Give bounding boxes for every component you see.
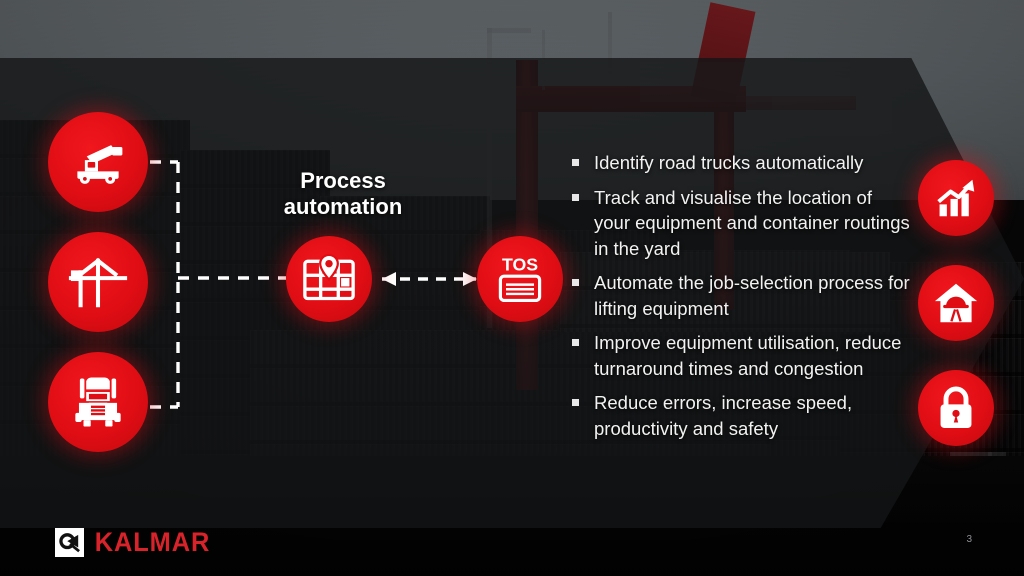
equipment-icon-road-truck[interactable]	[48, 352, 148, 452]
gantry-crane-icon	[67, 253, 129, 311]
benefit-icon-security[interactable]	[918, 370, 994, 446]
list-item: Reduce errors, increase speed, productiv…	[566, 390, 912, 441]
list-item-text: Reduce errors, increase speed, productiv…	[594, 392, 852, 439]
kalmar-wordmark: KALMAR	[95, 527, 211, 558]
benefit-icon-growth-chart[interactable]	[918, 160, 994, 236]
tos-badge[interactable]: TOS	[477, 236, 563, 322]
slide-canvas: Process automation TOS	[0, 0, 1024, 576]
benefits-list: Identify road trucks automatically Track…	[566, 150, 912, 450]
bullet-square-icon	[572, 279, 579, 286]
bullet-square-icon	[572, 159, 579, 166]
map-location-badge[interactable]	[286, 236, 372, 322]
page-number: 3	[966, 534, 972, 545]
kalmar-logo: KALMAR	[55, 527, 214, 558]
map-location-icon	[302, 253, 356, 305]
bullet-square-icon	[572, 339, 579, 346]
bullet-square-icon	[572, 194, 579, 201]
bullet-square-icon	[572, 399, 579, 406]
list-item: Track and visualise the location of your…	[566, 185, 912, 262]
growth-chart-icon	[934, 177, 978, 219]
tos-icon: TOS	[492, 251, 548, 307]
equipment-icon-reachstacker[interactable]	[48, 112, 148, 212]
list-item-text: Track and visualise the location of your…	[594, 187, 910, 259]
list-item-text: Improve equipment utilisation, reduce tu…	[594, 332, 901, 379]
benefit-icon-safety[interactable]	[918, 265, 994, 341]
kalmar-hook-mark-icon	[55, 528, 84, 557]
list-item: Improve equipment utilisation, reduce tu…	[566, 330, 912, 381]
list-item-text: Identify road trucks automatically	[594, 152, 863, 173]
list-item-text: Automate the job-selection process for l…	[594, 272, 910, 319]
list-item: Automate the job-selection process for l…	[566, 270, 912, 321]
equipment-icon-gantry-crane[interactable]	[48, 232, 148, 332]
page-title-line2: automation	[248, 194, 438, 220]
road-truck-icon	[69, 373, 127, 431]
page-title: Process automation	[248, 168, 438, 220]
tos-label-text: TOS	[502, 255, 538, 275]
kalmar-hook-glyph	[59, 533, 81, 553]
reachstacker-icon	[68, 132, 128, 192]
list-item: Identify road trucks automatically	[566, 150, 912, 176]
page-title-line1: Process	[248, 168, 438, 194]
padlock-icon	[936, 385, 976, 431]
safety-house-icon	[933, 281, 979, 325]
